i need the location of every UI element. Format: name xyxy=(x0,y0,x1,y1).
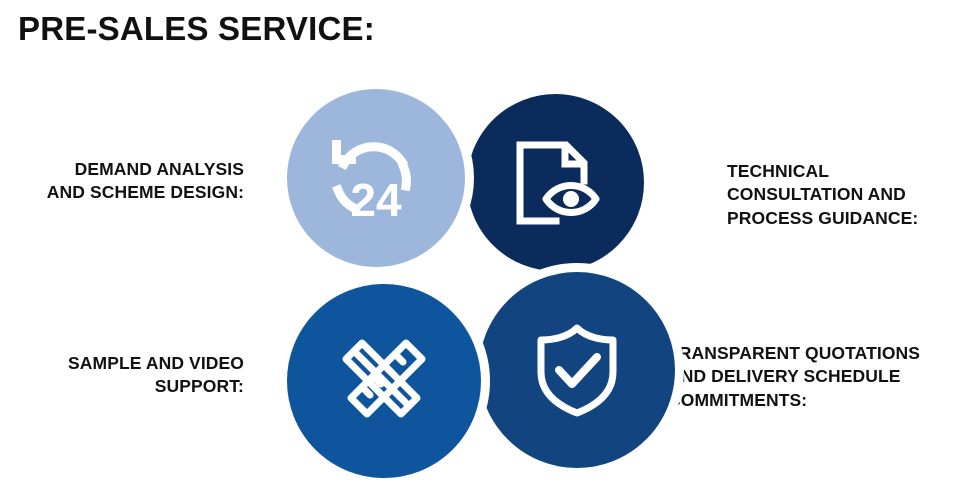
segment-technical-consultation[interactable] xyxy=(458,85,653,280)
24-hours-rotate-icon: 24 xyxy=(324,130,428,226)
label-line: DEMAND ANALYSIS xyxy=(0,158,244,181)
label-line: CONSULTATION AND xyxy=(727,183,959,206)
infographic-canvas: PRE-SALES SERVICE: 24 xyxy=(0,0,960,498)
segment-demand-analysis[interactable]: 24 xyxy=(278,80,474,276)
label-line: COMMITMENTS: xyxy=(668,389,960,412)
label-sample-video-support: SAMPLE AND VIDEO SUPPORT: xyxy=(0,352,244,399)
label-line: SUPPORT: xyxy=(0,375,244,398)
label-transparent-quotations: TRANSPARENT QUOTATIONS AND DELIVERY SCHE… xyxy=(668,342,960,412)
label-line: PROCESS GUIDANCE: xyxy=(727,207,959,230)
label-line: TRANSPARENT QUOTATIONS xyxy=(668,342,960,365)
label-line: AND SCHEME DESIGN: xyxy=(0,181,244,204)
label-line: SAMPLE AND VIDEO xyxy=(0,352,244,375)
page-title: PRE-SALES SERVICE: xyxy=(18,10,375,48)
segment-transparent-quotations[interactable] xyxy=(470,263,684,477)
document-eye-icon xyxy=(510,137,602,229)
segment-sample-video-support[interactable] xyxy=(278,275,490,487)
label-line: AND DELIVERY SCHEDULE xyxy=(668,365,960,388)
pencil-ruler-icon xyxy=(334,331,434,431)
label-technical-consultation: TECHNICAL CONSULTATION AND PROCESS GUIDA… xyxy=(727,160,959,230)
24-icon-text: 24 xyxy=(350,174,402,226)
circle-cluster: 24 xyxy=(270,75,690,490)
shield-check-icon xyxy=(531,322,623,418)
label-line: TECHNICAL xyxy=(727,160,959,183)
label-demand-analysis: DEMAND ANALYSIS AND SCHEME DESIGN: xyxy=(0,158,244,205)
